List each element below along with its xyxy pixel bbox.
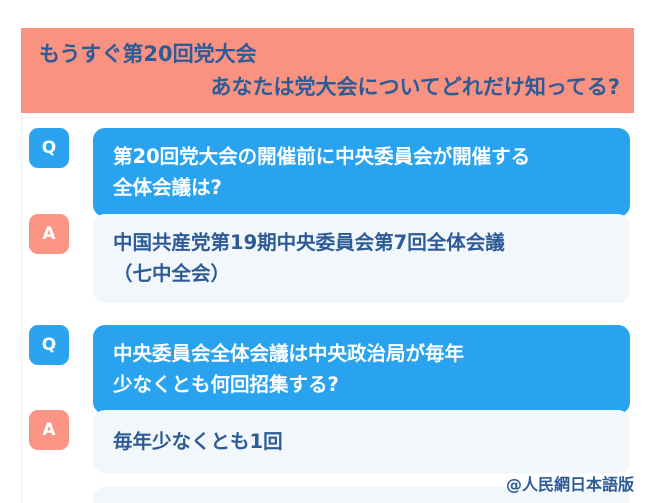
header-divider [21, 117, 634, 118]
question-line-1-1: 第20回党大会の開催前に中央委員会が開催する [113, 141, 610, 172]
answer-line-1-2: （七中全会） [113, 258, 610, 289]
quiz-card-page: もうすぐ第20回党大会 あなたは党大会についてどれだけ知ってる? Q 第20回党… [0, 0, 662, 503]
answer-line-2-1: 毎年少なくとも1回 [113, 426, 610, 457]
question-line-1-2: 全体会議は? [113, 172, 610, 203]
header-banner: もうすぐ第20回党大会 あなたは党大会についてどれだけ知ってる? [21, 28, 634, 113]
answer-badge-1: A [29, 214, 69, 254]
banner-title-line-2: あなたは党大会についてどれだけ知ってる? [35, 71, 622, 104]
question-bubble-2[interactable]: 中央委員会全体会議は中央政治局が毎年 少なくとも何回招集する? [93, 325, 630, 414]
left-rail-divider [21, 118, 22, 503]
banner-title-line-1: もうすぐ第20回党大会 [35, 38, 622, 71]
watermark: @人民網日本語版 [506, 471, 634, 495]
question-line-2-1: 中央委員会全体会議は中央政治局が毎年 [113, 338, 610, 369]
answer-bubble-1[interactable]: 中国共産党第19期中央委員会第7回全体会議 （七中全会） [93, 214, 630, 303]
question-line-2-2: 少なくとも何回招集する? [113, 369, 610, 400]
question-badge-1: Q [29, 128, 69, 168]
answer-badge-2: A [29, 410, 69, 450]
question-badge-2: Q [29, 325, 69, 365]
answer-bubble-2[interactable]: 毎年少なくとも1回 [93, 410, 630, 473]
question-bubble-1[interactable]: 第20回党大会の開催前に中央委員会が開催する 全体会議は? [93, 128, 630, 217]
answer-line-1-1: 中国共産党第19期中央委員会第7回全体会議 [113, 227, 610, 258]
